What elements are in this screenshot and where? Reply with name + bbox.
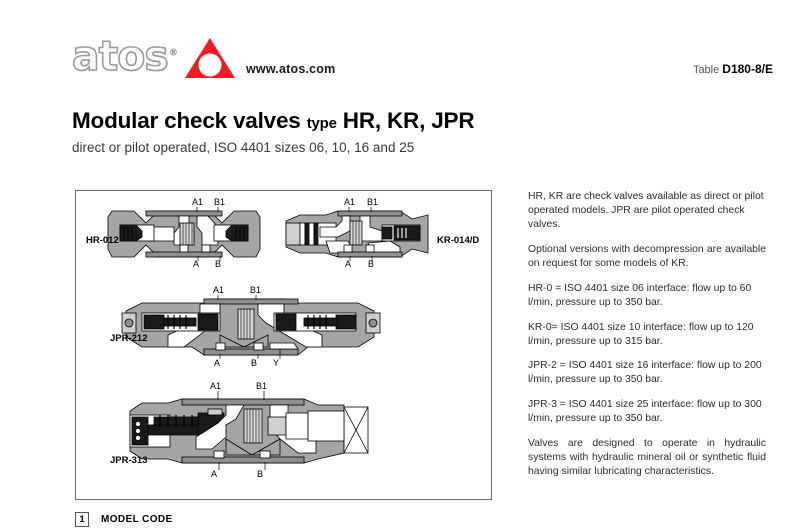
valve-cross-section-panel: HR-012 A1 B1 A B [75,190,492,500]
port-label-b: B [368,259,374,269]
section-title: MODEL CODE [101,514,173,525]
port-label-a1: A1 [344,197,355,207]
figure-label-kr-014-d: KR-014/D [437,235,479,246]
website-url[interactable]: www.atos.com [246,62,335,76]
port-label-a: A [193,259,199,269]
port-label-y: Y [273,358,279,368]
page-subtitle: direct or pilot operated, ISO 4401 sizes… [72,140,474,155]
description-paragraph-4: KR-0= ISO 4401 size 10 interface: flow u… [528,321,766,349]
figure-label-jpr-212: JPR-212 [110,333,148,344]
port-label-b1: B1 [256,381,267,391]
figure-label-jpr-313: JPR-313 [110,455,148,466]
section-model-code: 1 MODEL CODE [75,512,173,527]
port-label-b1: B1 [367,197,378,207]
port-label-a: A [214,358,220,368]
page-title: Modular check valves type HR, KR, JPR [72,108,474,134]
port-label-a1: A1 [210,381,221,391]
title-type-word: type [307,115,337,132]
section-number-badge: 1 [75,512,89,527]
port-label-b1: B1 [250,285,261,295]
registered-mark-icon: ® [169,48,177,58]
brand-logo: atos® [72,36,237,80]
description-paragraph-2: Optional versions with decompression are… [528,243,766,271]
page-header: atos® www.atos.com Table D180-8/E [0,0,795,100]
port-label-a: A [211,469,217,479]
figure-label-hr-012: HR-012 [86,235,119,246]
port-label-a: A [345,259,351,269]
port-label-a1: A1 [213,285,224,295]
description-paragraph-6: JPR-3 = ISO 4401 size 25 interface: flow… [528,398,766,426]
title-models: HR, KR, JPR [343,108,475,133]
port-label-b1: B1 [214,197,225,207]
figure-jpr-313: JPR-313 A1 B1 A B [108,381,408,487]
title-main-text: Modular check valves [72,108,301,133]
figure-hr-012: HR-012 A1 B1 A B [84,197,284,277]
port-label-a1: A1 [192,197,203,207]
description-paragraph-5: JPR-2 = ISO 4401 size 16 interface: flow… [528,359,766,387]
description-paragraph-3: HR-0 = ISO 4401 size 06 interface: flow … [528,282,766,310]
port-label-b: B [257,469,263,479]
description-column: HR, KR are check valves available as dir… [528,190,766,490]
port-label-b: B [215,259,221,269]
description-paragraph-1: HR, KR are check valves available as dir… [528,190,766,232]
table-code: D180-8/E [722,62,773,76]
atos-wordmark: atos® [72,36,177,77]
figure-kr-014-d: KR-014/D A1 B1 A B [282,197,490,277]
description-paragraph-7: Valves are designed to operate in hydrau… [528,437,766,479]
triangle-circle-icon [183,36,237,80]
port-label-b: B [251,358,257,368]
title-block: Modular check valves type HR, KR, JPR di… [72,108,474,155]
figure-jpr-212: JPR-212 A1 B1 A B Y [108,285,398,377]
table-label: Table [693,64,719,76]
table-reference: Table D180-8/E [693,62,773,76]
